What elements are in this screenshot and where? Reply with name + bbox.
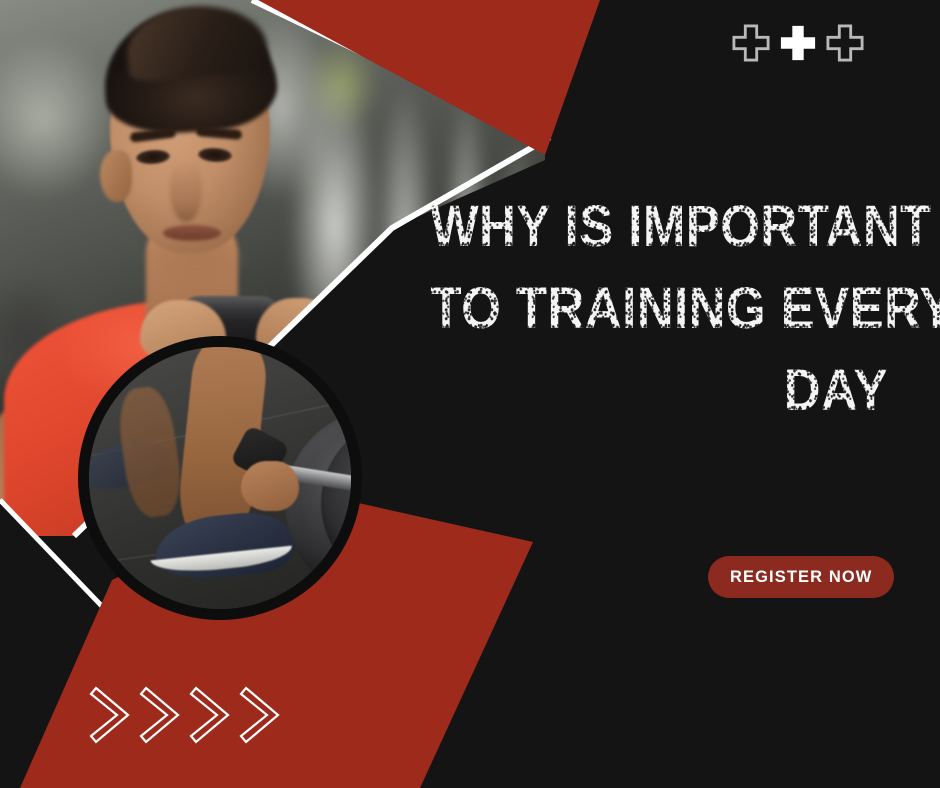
cross-outline-right-icon	[826, 24, 864, 62]
headline-line-2: TO TRAINING EVERY	[430, 268, 888, 350]
cross-decoration-row	[732, 24, 864, 62]
chevron-right-icon	[188, 684, 234, 746]
register-now-button[interactable]: REGISTER NOW	[708, 556, 894, 598]
cross-outline-left-icon	[732, 24, 770, 62]
chevron-right-icon	[138, 684, 184, 746]
headline-line-1: WHY IS IMPORTANT	[430, 186, 888, 268]
chevron-row	[88, 684, 284, 746]
gripping-hand	[241, 461, 299, 511]
poster-canvas: WHY IS IMPORTANT TO TRAINING EVERY DAY R…	[0, 0, 940, 788]
circle-photo-inset	[78, 336, 362, 620]
chevron-right-icon	[88, 684, 134, 746]
cross-solid-center-icon	[779, 24, 817, 62]
headline: WHY IS IMPORTANT TO TRAINING EVERY DAY	[368, 186, 888, 432]
chevron-right-icon	[238, 684, 284, 746]
headline-line-3: DAY	[430, 350, 888, 432]
